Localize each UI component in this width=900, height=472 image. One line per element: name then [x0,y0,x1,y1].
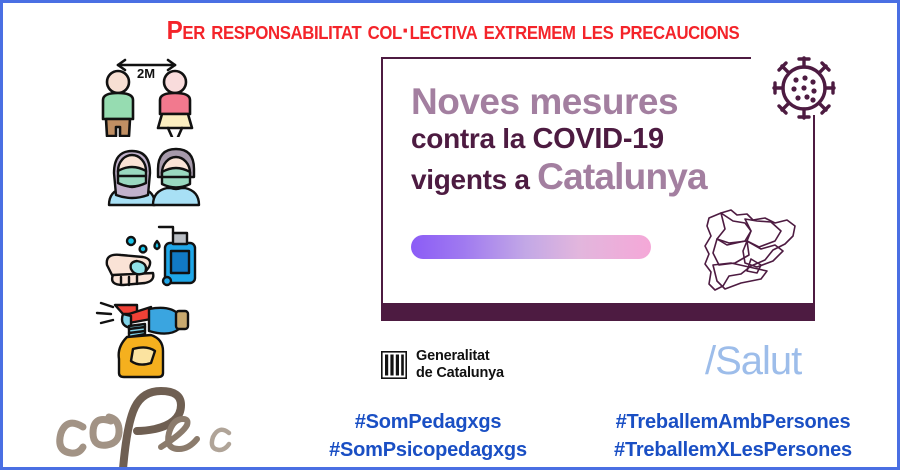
generalitat-wordmark: Generalitat de Catalunya [416,348,504,382]
generalitat-line-1: Generalitat [416,348,504,365]
covid-measures-poster: Noves mesures contra la COVID-19 vigents… [373,53,833,323]
copec-logo [33,381,263,467]
hashtag-item[interactable]: #TreballemAmbPersones [573,408,893,436]
poster-heading-block: Noves mesures contra la COVID-19 vigents… [411,83,771,197]
poster-heading-line-2: contra la COVID-19 [411,123,771,156]
catalonia-map-icon [695,201,807,293]
face-mask-illustration [75,143,225,209]
disinfectant-spray-illustration [75,293,225,379]
generalitat-four-bars-emblem [381,351,407,379]
page-title: Per responsabilitat col·lectiva extremem… [35,17,872,43]
social-distancing-icon: 2M [75,55,225,137]
hand-sanitizer-icon [75,215,225,289]
social-distancing-illustration: 2M [75,55,225,137]
hand-sanitizer-illustration [75,215,225,289]
hashtag-column-left: #SomPedagxgs #SomPsicopedagxgs [293,408,563,465]
poster-bottom-bar [381,305,815,321]
poster-right-rule [813,149,815,277]
generalitat-logo: Generalitat de Catalunya [381,348,504,382]
hashtag-column-right: #TreballemAmbPersones #TreballemXLesPers… [573,408,893,465]
prevention-icon-column: 2M [75,55,225,395]
poster-line2-prefix: contra la [411,123,532,154]
poster-gradient-bar [411,235,651,259]
distance-label: 2M [137,66,155,81]
face-mask-icon [75,143,225,209]
hashtag-block: #SomPedagxgs #SomPsicopedagxgs #Treballe… [293,408,893,466]
poster-line3-region: Catalunya [537,156,707,197]
copec-signature-mark [33,381,263,467]
hashtag-item[interactable]: #TreballemXLesPersones [573,436,893,464]
coronavirus-glyph [771,55,837,121]
generalitat-line-2: de Catalunya [416,365,504,382]
coronavirus-icon [771,55,837,121]
poster-line2-strong: COVID-19 [532,123,663,155]
salut-logo: /Salut [705,341,801,381]
hashtag-item[interactable]: #SomPedagxgs [293,408,563,436]
catalonia-map-outline [695,201,807,293]
poster-heading-line-1: Noves mesures [411,83,771,121]
hashtag-item[interactable]: #SomPsicopedagxgs [293,436,563,464]
slide-canvas: Per responsabilitat col·lectiva extremem… [0,0,900,470]
disinfectant-spray-icon [75,293,225,379]
poster-line3-prefix: vigents a [411,164,537,195]
poster-heading-line-3: vigents a Catalunya [411,157,771,198]
